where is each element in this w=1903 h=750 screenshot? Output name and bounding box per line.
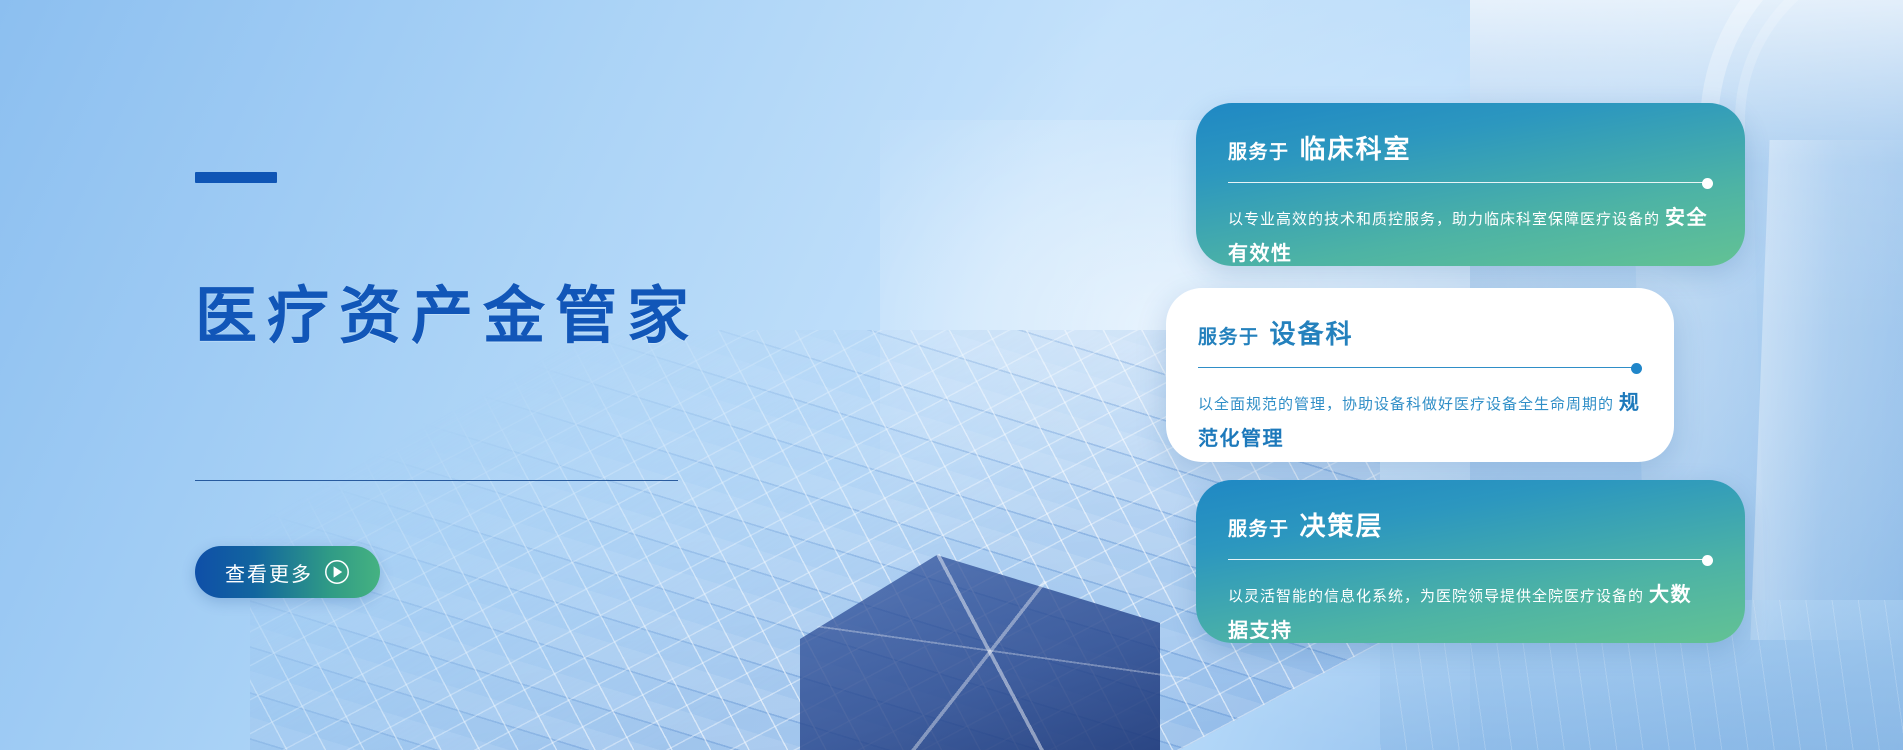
card-prefix: 服务于: [1228, 514, 1290, 541]
card-body-text: 以专业高效的技术和质控服务，助力临床科室保障医疗设备的: [1228, 211, 1660, 228]
card-rule: [1228, 555, 1713, 564]
card-prefix: 服务于: [1198, 322, 1260, 349]
service-card-decision-layer[interactable]: 服务于 决策层 以灵活智能的信息化系统，为医院领导提供全院医疗设备的大数据支持: [1196, 480, 1745, 643]
card-rule-line: [1198, 367, 1633, 368]
service-card-clinical-department[interactable]: 服务于 临床科室 以专业高效的技术和质控服务，助力临床科室保障医疗设备的安全有效…: [1196, 103, 1745, 266]
card-body: 以专业高效的技术和质控服务，助力临床科室保障医疗设备的安全有效性: [1228, 201, 1713, 266]
card-subject: 临床科室: [1300, 129, 1412, 166]
card-rule-end-dot-icon: [1631, 363, 1642, 374]
card-rule: [1198, 363, 1642, 372]
card-heading: 服务于 设备科: [1198, 314, 1642, 351]
card-body: 以全面规范的管理，协助设备科做好医疗设备全生命周期的规范化管理: [1198, 386, 1642, 457]
card-subject: 决策层: [1300, 506, 1384, 543]
card-rule-end-dot-icon: [1702, 178, 1713, 189]
card-rule-end-dot-icon: [1702, 555, 1713, 566]
service-card-equipment-department[interactable]: 服务于 设备科 以全面规范的管理，协助设备科做好医疗设备全生命周期的规范化管理: [1166, 288, 1674, 462]
card-subject: 设备科: [1270, 314, 1354, 351]
card-body-text: 以全面规范的管理，协助设备科做好医疗设备全生命周期的: [1198, 396, 1614, 413]
card-rule: [1228, 178, 1713, 187]
card-body: 以灵活智能的信息化系统，为医院领导提供全院医疗设备的大数据支持: [1228, 578, 1713, 643]
card-body-text: 以灵活智能的信息化系统，为医院领导提供全院医疗设备的: [1228, 588, 1644, 605]
card-heading: 服务于 决策层: [1228, 506, 1713, 543]
card-prefix: 服务于: [1228, 137, 1290, 164]
card-rule-line: [1228, 559, 1704, 560]
card-rule-line: [1228, 182, 1704, 183]
service-cards-group: 服务于 临床科室 以专业高效的技术和质控服务，助力临床科室保障医疗设备的安全有效…: [0, 0, 1903, 750]
hero-banner: 医疗资产金管家 查看更多 服务于 临床科室 以专业高效的技术和质控服务，助力临: [0, 0, 1903, 750]
card-heading: 服务于 临床科室: [1228, 129, 1713, 166]
